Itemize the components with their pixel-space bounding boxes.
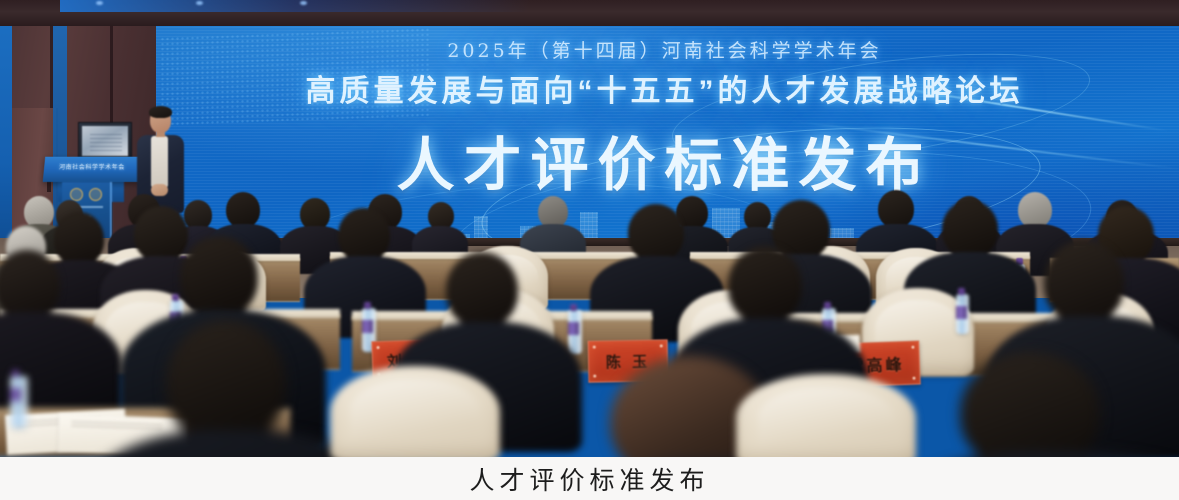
water-bottle <box>568 310 582 354</box>
conference-photo: 2025年（第十四届）河南社会科学学术年会 高质量发展与面向“十五五”的人才发展… <box>0 0 1179 457</box>
banquet-chair <box>736 374 916 457</box>
caption-band: 人才评价标准发布 <box>0 457 1179 500</box>
banquet-chair <box>330 366 500 457</box>
water-bottle <box>10 376 28 428</box>
photo-caption: 人才评价标准发布 <box>469 461 709 497</box>
audience-area: 杰 王 洪 <box>0 0 1179 457</box>
water-bottle <box>956 294 969 334</box>
screenshot-root: 2025年（第十四届）河南社会科学学术年会 高质量发展与面向“十五五”的人才发展… <box>0 0 1179 500</box>
